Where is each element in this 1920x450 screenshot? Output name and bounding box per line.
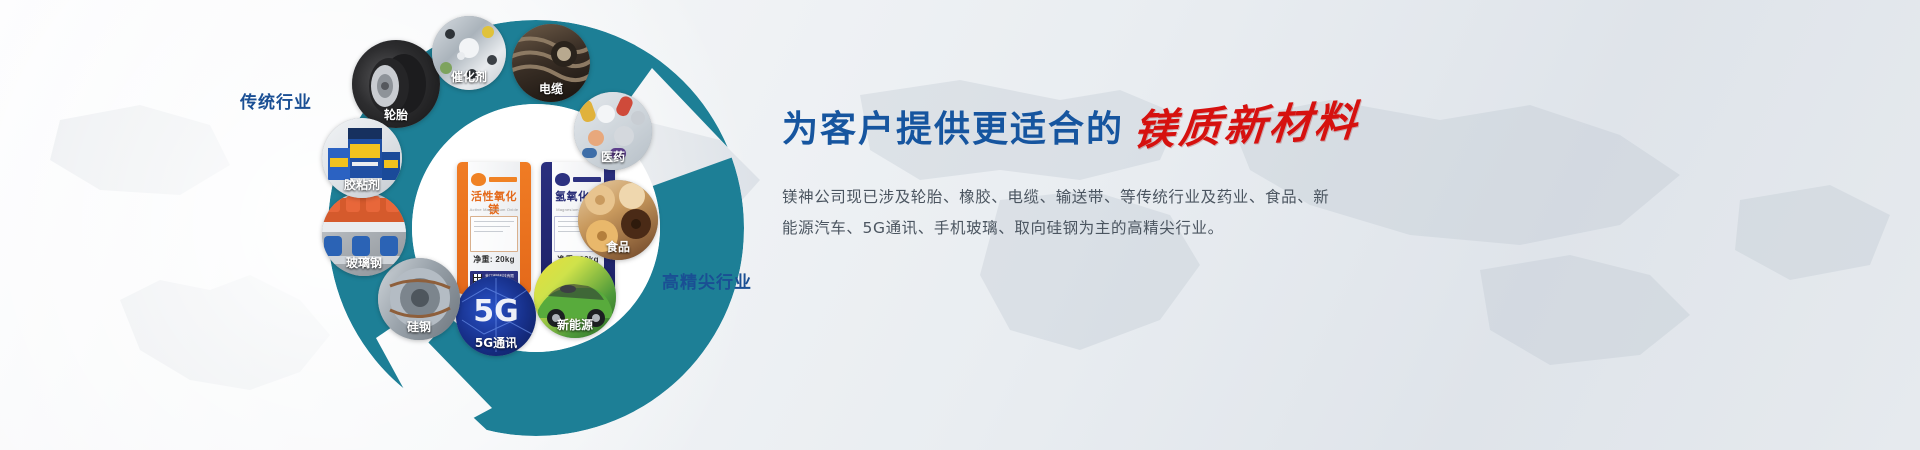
industry-node-label: 硅钢 bbox=[378, 319, 460, 340]
industry-node-new-energy[interactable]: 新能源 bbox=[534, 256, 616, 338]
industry-node-label: 新能源 bbox=[534, 317, 616, 338]
section-label-traditional: 传统行业 bbox=[240, 88, 312, 113]
paragraph-line-2: 能源汽车、5G通讯、手机玻璃、取向硅钢为主的高精尖行业。 bbox=[782, 213, 1302, 244]
brand-wordmark bbox=[489, 177, 517, 182]
brand-mark-icon bbox=[471, 173, 486, 186]
headline-red-text: 镁质新材料 bbox=[1132, 100, 1361, 152]
industry-node-5g[interactable]: 5G 5G通讯 bbox=[456, 276, 536, 356]
industry-node-medicine[interactable]: 医药 bbox=[574, 92, 652, 170]
svg-text:5G: 5G bbox=[473, 294, 519, 329]
headline-blue-text: 为客户提供更适合的 bbox=[782, 100, 1124, 152]
bag-product-name-en: Active Magnesium Oxide bbox=[467, 207, 521, 212]
industry-ring-infographic: 活性氧化镁 Active Magnesium Oxide 净重: 20kg 营口… bbox=[316, 8, 756, 448]
bag-product-name: 活性氧化镁 bbox=[467, 191, 521, 216]
industry-node-label: 5G通讯 bbox=[456, 335, 536, 356]
hero-paragraph: 镁神公司现已涉及轮胎、橡胶、电缆、输送带、等传统行业及药业、食品、新 能源汽车、… bbox=[782, 182, 1302, 244]
bag-net-weight: 净重: 20kg bbox=[457, 254, 531, 265]
hero-copy: 为客户提供更适合的 镁质新材料 镁神公司现已涉及轮胎、橡胶、电缆、输送带、等传统… bbox=[782, 100, 1522, 244]
product-bag-active-magnesium-oxide: 活性氧化镁 Active Magnesium Oxide 净重: 20kg 营口… bbox=[457, 162, 531, 294]
industry-node-catalyst[interactable]: 催化剂 bbox=[432, 16, 506, 90]
industry-node-label: 医药 bbox=[574, 149, 652, 170]
industry-node-food[interactable]: 食品 bbox=[578, 180, 658, 260]
bag-side-right bbox=[520, 162, 531, 294]
industry-node-cable[interactable]: 电缆 bbox=[512, 24, 590, 102]
page-title: 为客户提供更适合的 镁质新材料 bbox=[782, 100, 1522, 152]
industry-node-fiberglass[interactable]: 玻璃钢 bbox=[322, 192, 406, 276]
hero-banner: 活性氧化镁 Active Magnesium Oxide 净重: 20kg 营口… bbox=[0, 0, 1920, 450]
brand-mark-icon bbox=[555, 173, 570, 186]
industry-node-adhesive[interactable]: 胶粘剂 bbox=[322, 118, 402, 198]
bag-logo bbox=[471, 171, 517, 188]
section-label-advanced: 高精尖行业 bbox=[662, 268, 752, 293]
bag-spec-panel bbox=[470, 216, 518, 252]
industry-node-tire[interactable]: 轮胎 bbox=[352, 40, 440, 128]
paragraph-line-1: 镁神公司现已涉及轮胎、橡胶、电缆、输送带、等传统行业及药业、食品、新 bbox=[782, 182, 1302, 213]
industry-node-label: 催化剂 bbox=[432, 69, 506, 90]
industry-node-label: 胶粘剂 bbox=[322, 177, 402, 198]
industry-node-label: 玻璃钢 bbox=[322, 255, 406, 276]
